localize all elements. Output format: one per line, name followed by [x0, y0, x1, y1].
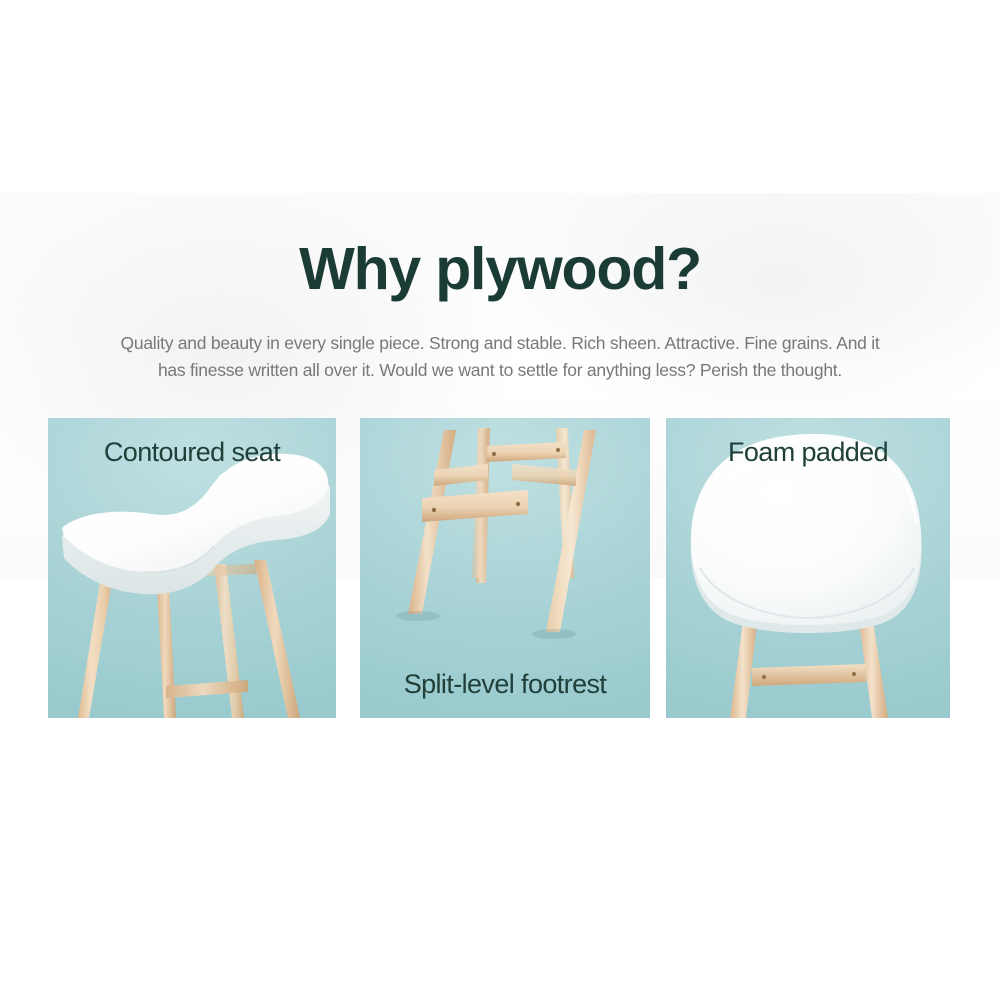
hero-description-line-2: has finesse written all over it. Would w… — [110, 357, 890, 384]
feature-panel-contoured-seat: Contoured seat — [48, 418, 336, 718]
contoured-seat-shell — [62, 454, 330, 595]
hero-description-line-1: Quality and beauty in every single piece… — [110, 330, 890, 357]
hero-description: Quality and beauty in every single piece… — [110, 330, 890, 384]
promo-banner: Why plywood? Quality and beauty in every… — [0, 0, 1000, 1000]
mid-rails — [434, 464, 576, 486]
feature-panel-split-level-footrest: Split-level footrest — [360, 418, 650, 718]
panel-label-contoured-seat: Contoured seat — [48, 436, 336, 468]
panel-label-foam-padded: Foam padded — [666, 436, 950, 468]
panel-label-split-level-footrest: Split-level footrest — [360, 668, 650, 700]
upper-footrest-rail — [486, 442, 566, 462]
page-title: Why plywood? — [0, 236, 1000, 302]
feature-panel-foam-padded: Foam padded — [666, 418, 950, 718]
